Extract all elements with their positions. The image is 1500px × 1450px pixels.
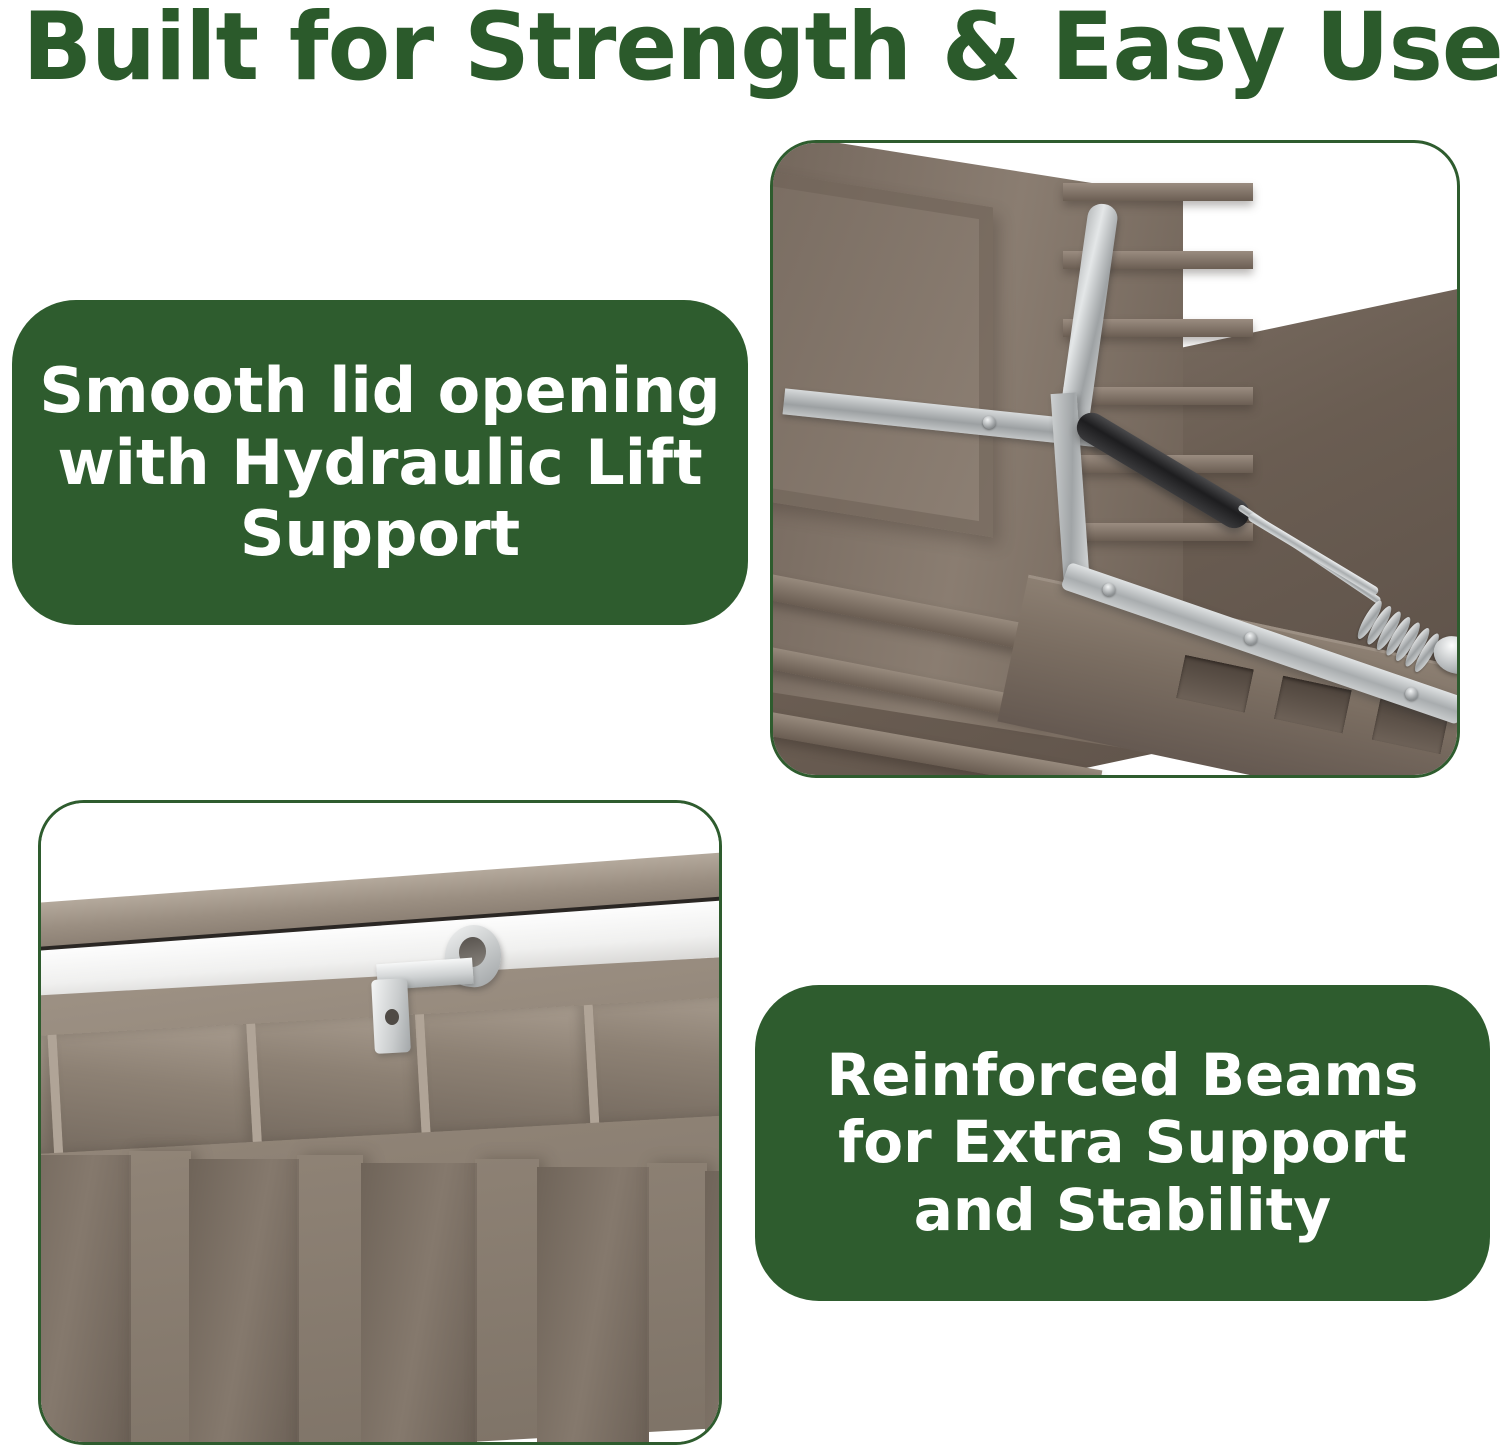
beam-gap xyxy=(537,1167,649,1445)
infographic-stage: Built for Strength & Easy Use Smooth lid… xyxy=(0,0,1500,1450)
rivet xyxy=(1243,630,1260,647)
callout-reinforced-beams: Reinforced Beams for Extra Support and S… xyxy=(755,985,1490,1301)
reinforcement-beam xyxy=(647,1163,707,1445)
bracket-screw-hole xyxy=(385,1009,399,1025)
callout-hydraulic-lift: Smooth lid opening with Hydraulic Lift S… xyxy=(12,300,748,625)
page-title: Built for Strength & Easy Use xyxy=(23,0,1478,100)
reinforced-beams-photo xyxy=(41,803,719,1442)
photo-panel-reinforced-beams xyxy=(38,800,722,1445)
rib-cell xyxy=(593,996,722,1123)
callout-hydraulic-lift-text: Smooth lid opening with Hydraulic Lift S… xyxy=(39,355,720,571)
photo-panel-hydraulic-lift xyxy=(770,140,1460,778)
beam-gap xyxy=(189,1159,299,1445)
rivet xyxy=(982,415,996,429)
reinforcement-beam xyxy=(297,1155,363,1445)
hydraulic-lift-photo xyxy=(773,143,1457,775)
reinforcement-beam xyxy=(475,1159,539,1445)
lid-stay-bracket xyxy=(359,921,529,1051)
lid-recessed-panel xyxy=(770,168,993,538)
beam-gap xyxy=(361,1163,477,1445)
beam-gap xyxy=(705,1171,722,1445)
rivet xyxy=(1101,581,1118,598)
rivet xyxy=(1403,686,1420,703)
reinforcement-beam xyxy=(129,1151,191,1445)
callout-reinforced-beams-text: Reinforced Beams for Extra Support and S… xyxy=(827,1042,1419,1244)
rib-cell xyxy=(57,1024,262,1153)
rail-slot xyxy=(1176,655,1254,713)
beam-gap xyxy=(38,1155,131,1445)
